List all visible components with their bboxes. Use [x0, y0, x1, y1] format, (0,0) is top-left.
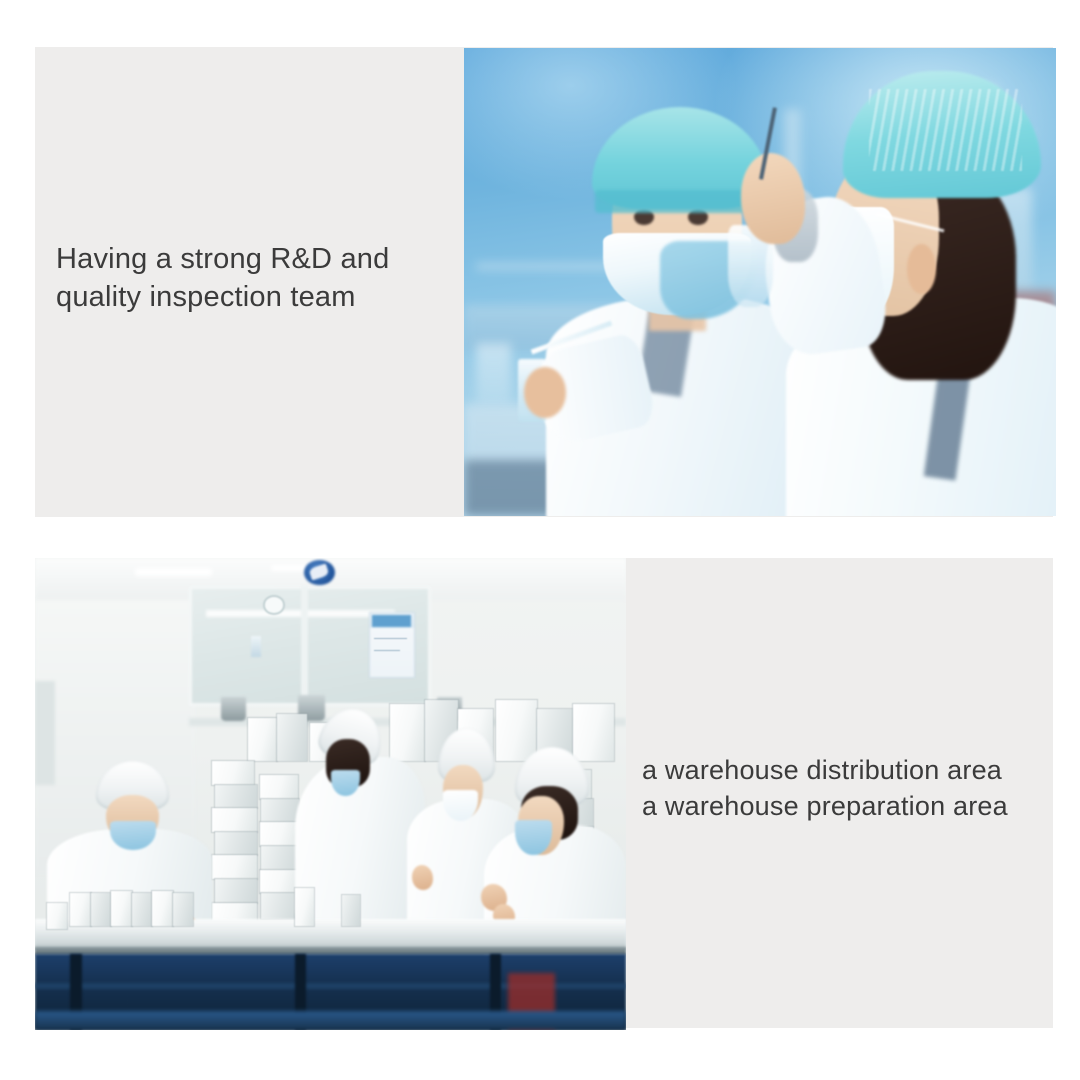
- carton-stack-mid: [261, 799, 299, 823]
- warehouse-packing-cleanroom-photo: [35, 558, 626, 1030]
- carton-on-table: [152, 891, 173, 926]
- worker2-gloved-hand: [741, 153, 805, 244]
- lab-worker-profile: [760, 62, 1056, 516]
- carton-stack-mid: [260, 870, 300, 894]
- stainless-pot: [221, 697, 246, 721]
- worker2-ear: [907, 244, 936, 294]
- bottom-section-caption: a warehouse distribution area a warehous…: [642, 752, 1042, 824]
- carton-stack-mid: [215, 832, 256, 856]
- shelf-vial: [251, 636, 260, 657]
- window-mullion: [301, 586, 308, 699]
- carton-on-table: [111, 891, 132, 926]
- blue-floor: [35, 1011, 626, 1030]
- page-canvas: Having a strong R&D and quality inspecti…: [0, 0, 1080, 1080]
- notice-board-line: [374, 650, 400, 651]
- wall-clock-icon: [263, 595, 286, 615]
- carton-stack-mid: [212, 808, 256, 832]
- top-section-caption: Having a strong R&D and quality inspecti…: [56, 240, 456, 316]
- carton-stack-mid: [261, 893, 299, 919]
- worker-hair-net-band: [595, 190, 765, 214]
- rd-quality-inspection-lab-photo: [464, 48, 1056, 516]
- notice-board-header: [372, 615, 411, 627]
- lab-beaker: [476, 343, 512, 404]
- carton-stack-rear: [248, 718, 278, 760]
- carton-stack-mid: [215, 879, 256, 903]
- carton-stack-mid: [260, 822, 300, 846]
- carton-on-table: [342, 895, 360, 926]
- carton-on-table: [47, 903, 67, 929]
- carton-stack-mid: [212, 761, 253, 785]
- notice-board-line: [374, 638, 407, 639]
- carton-stack-mid: [260, 775, 298, 799]
- carton-on-table: [295, 888, 314, 926]
- carton-on-table: [91, 893, 111, 926]
- ceiling-light-left: [135, 568, 212, 576]
- carton-on-table: [70, 893, 90, 926]
- worker-hand: [412, 865, 433, 890]
- carton-on-table: [132, 893, 152, 926]
- worker2-hair-net-pleats: [869, 89, 1022, 171]
- carton-stack-mid: [215, 785, 256, 809]
- carton-stack-mid: [212, 855, 256, 879]
- carton-stack-mid: [261, 846, 299, 870]
- worker-hand: [524, 367, 567, 418]
- cleanroom-worker-bending: [295, 709, 425, 926]
- carton-on-table: [173, 893, 193, 926]
